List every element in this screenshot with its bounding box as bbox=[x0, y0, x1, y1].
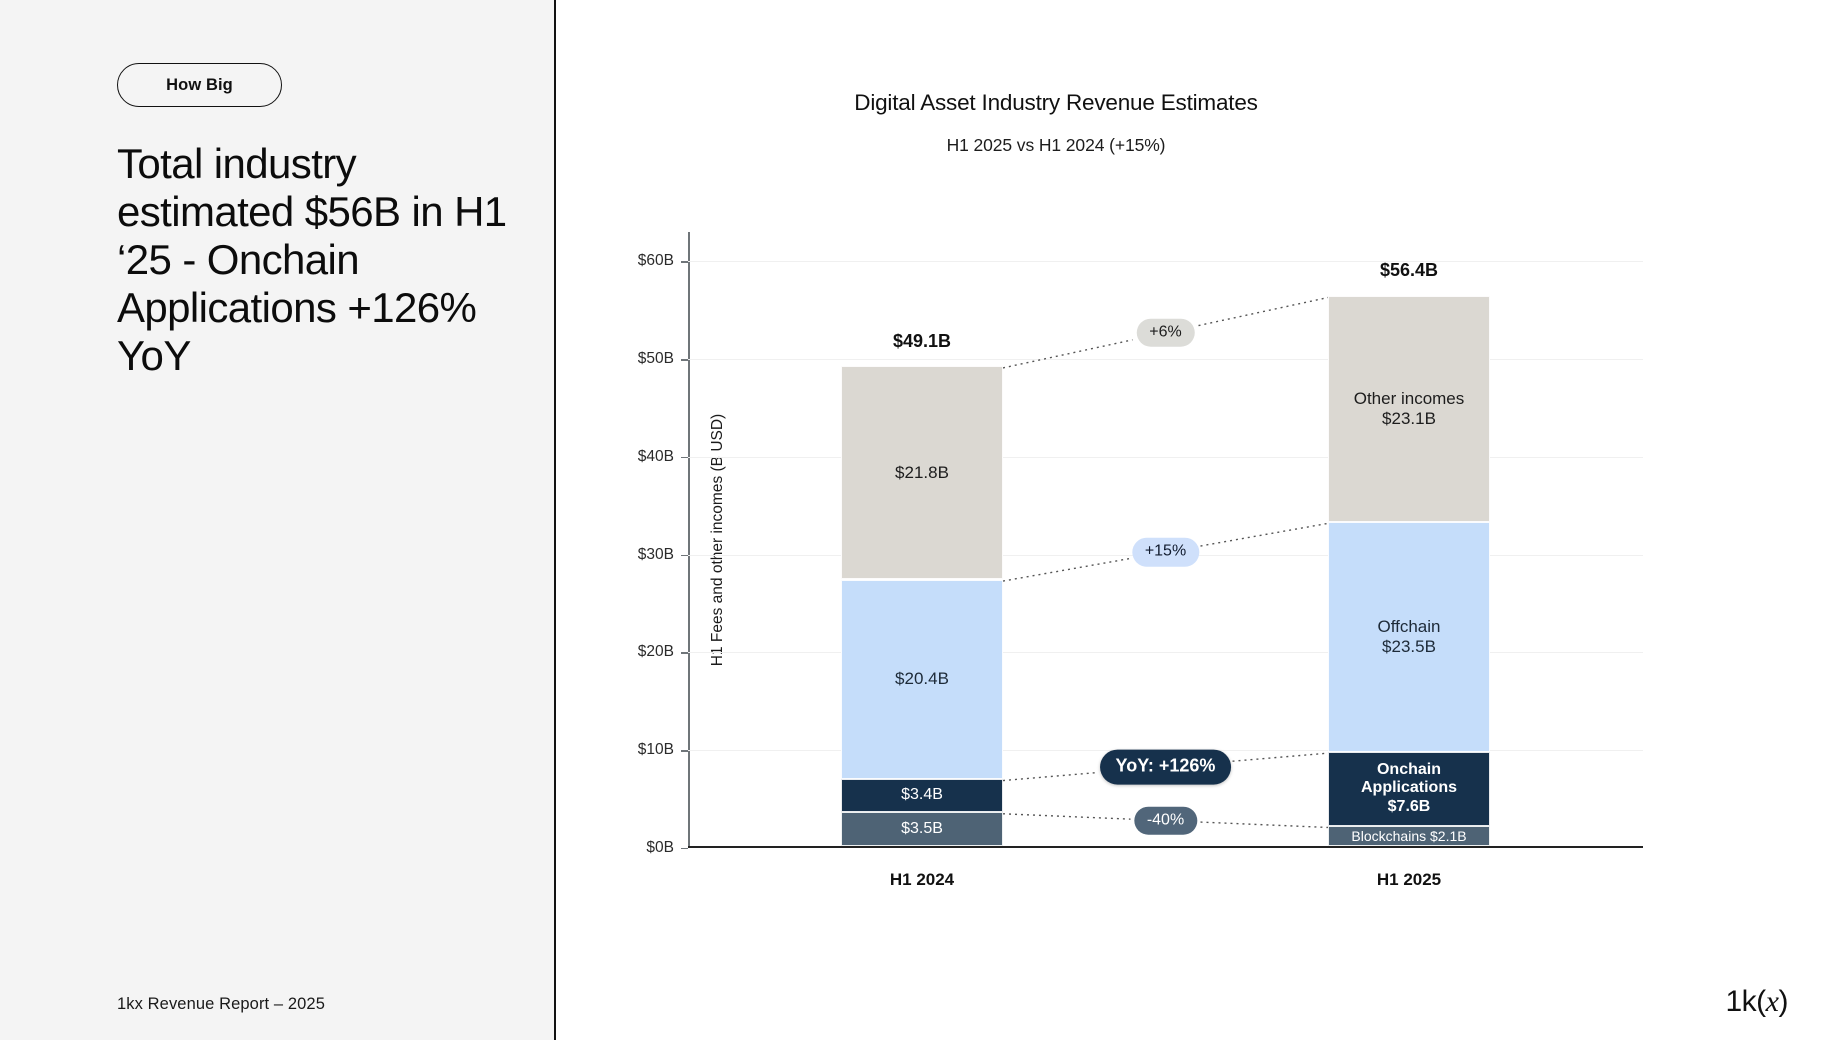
bar-segment-label: $3.4B bbox=[901, 786, 943, 805]
y-tick-label: $60B bbox=[638, 252, 674, 270]
y-tick-mark bbox=[681, 555, 688, 556]
bar-h1-2024[interactable]: $3.5B$3.4B$20.4B$21.8B$49.1BH1 2024 bbox=[841, 230, 1003, 846]
bar-segment-blockchains[interactable]: Blockchains $2.1B bbox=[1328, 826, 1490, 847]
chart-subtitle: H1 2025 vs H1 2024 (+15%) bbox=[556, 135, 1556, 156]
logo-italic-x: x bbox=[1766, 985, 1779, 1018]
gridline bbox=[688, 359, 1643, 360]
left-text-panel: How Big Total industry estimated $56B in… bbox=[0, 0, 556, 1040]
x-axis-label: H1 2025 bbox=[1328, 870, 1490, 890]
page-title: Total industry estimated $56B in H1 ‘25 … bbox=[117, 140, 517, 379]
bar-segment-offchain[interactable]: $20.4B bbox=[841, 580, 1003, 779]
y-tick-mark bbox=[681, 457, 688, 458]
bar-segment-label: $3.5B bbox=[901, 820, 943, 839]
logo-suffix: ) bbox=[1779, 985, 1789, 1018]
y-tick-label: $0B bbox=[646, 839, 674, 857]
growth-badge-offchain-growth: +15% bbox=[1132, 538, 1199, 567]
bar-segment-onchain-applications[interactable]: OnchainApplications$7.6B bbox=[1328, 752, 1490, 826]
y-tick-label: $40B bbox=[638, 448, 674, 466]
bar-segment-other-incomes[interactable]: $21.8B bbox=[841, 366, 1003, 579]
y-tick-label: $30B bbox=[638, 546, 674, 564]
chart-title: Digital Asset Industry Revenue Estimates bbox=[556, 90, 1556, 116]
bar-segment-label: $20.4B bbox=[895, 669, 949, 689]
y-tick-mark bbox=[681, 652, 688, 653]
y-tick-mark bbox=[681, 750, 688, 751]
y-axis-title: H1 Fees and other incomes (B USD) bbox=[709, 414, 727, 666]
logo-prefix: 1k( bbox=[1725, 985, 1765, 1018]
y-tick-label: $50B bbox=[638, 350, 674, 368]
how-big-pill-badge: How Big bbox=[117, 63, 282, 107]
how-big-pill-label: How Big bbox=[166, 76, 233, 95]
plot-area: H1 Fees and other incomes (B USD) $0B$10… bbox=[688, 232, 1643, 848]
gridline bbox=[688, 457, 1643, 458]
bar-segment-label: Offchain$23.5B bbox=[1377, 617, 1440, 656]
y-tick-label: $10B bbox=[638, 741, 674, 759]
growth-badge-other-incomes-growth: +6% bbox=[1136, 318, 1194, 347]
bar-total-label: $56.4B bbox=[1328, 260, 1490, 281]
bar-segment-label: Other incomes$23.1B bbox=[1354, 389, 1465, 428]
growth-badge-blockchains-growth: -40% bbox=[1134, 806, 1197, 835]
brand-logo: 1k(x) bbox=[1725, 985, 1788, 1019]
bar-segment-label: Blockchains $2.1B bbox=[1351, 828, 1466, 844]
chart-panel: Digital Asset Industry Revenue Estimates… bbox=[556, 0, 1848, 1040]
y-tick-mark bbox=[681, 848, 688, 849]
gridline bbox=[688, 261, 1643, 262]
gridline bbox=[688, 652, 1643, 653]
y-tick-mark bbox=[681, 359, 688, 360]
bar-h1-2025[interactable]: Blockchains $2.1BOnchainApplications$7.6… bbox=[1328, 230, 1490, 846]
bar-segment-onchain-applications[interactable]: $3.4B bbox=[841, 779, 1003, 812]
bar-segment-offchain[interactable]: Offchain$23.5B bbox=[1328, 522, 1490, 752]
y-tick-label: $20B bbox=[638, 643, 674, 661]
bar-total-label: $49.1B bbox=[841, 331, 1003, 352]
bar-segment-label: $21.8B bbox=[895, 463, 949, 483]
report-footer-note: 1kx Revenue Report – 2025 bbox=[117, 995, 325, 1014]
bar-segment-blockchains[interactable]: $3.5B bbox=[841, 812, 1003, 846]
bar-segment-other-incomes[interactable]: Other incomes$23.1B bbox=[1328, 296, 1490, 522]
x-axis-label: H1 2024 bbox=[841, 870, 1003, 890]
bar-segment-label: OnchainApplications$7.6B bbox=[1361, 761, 1457, 817]
growth-badge-onchain-growth: YoY: +126% bbox=[1100, 749, 1232, 784]
y-axis-line bbox=[688, 232, 690, 848]
y-tick-mark bbox=[681, 261, 688, 262]
x-axis-line bbox=[688, 846, 1643, 848]
